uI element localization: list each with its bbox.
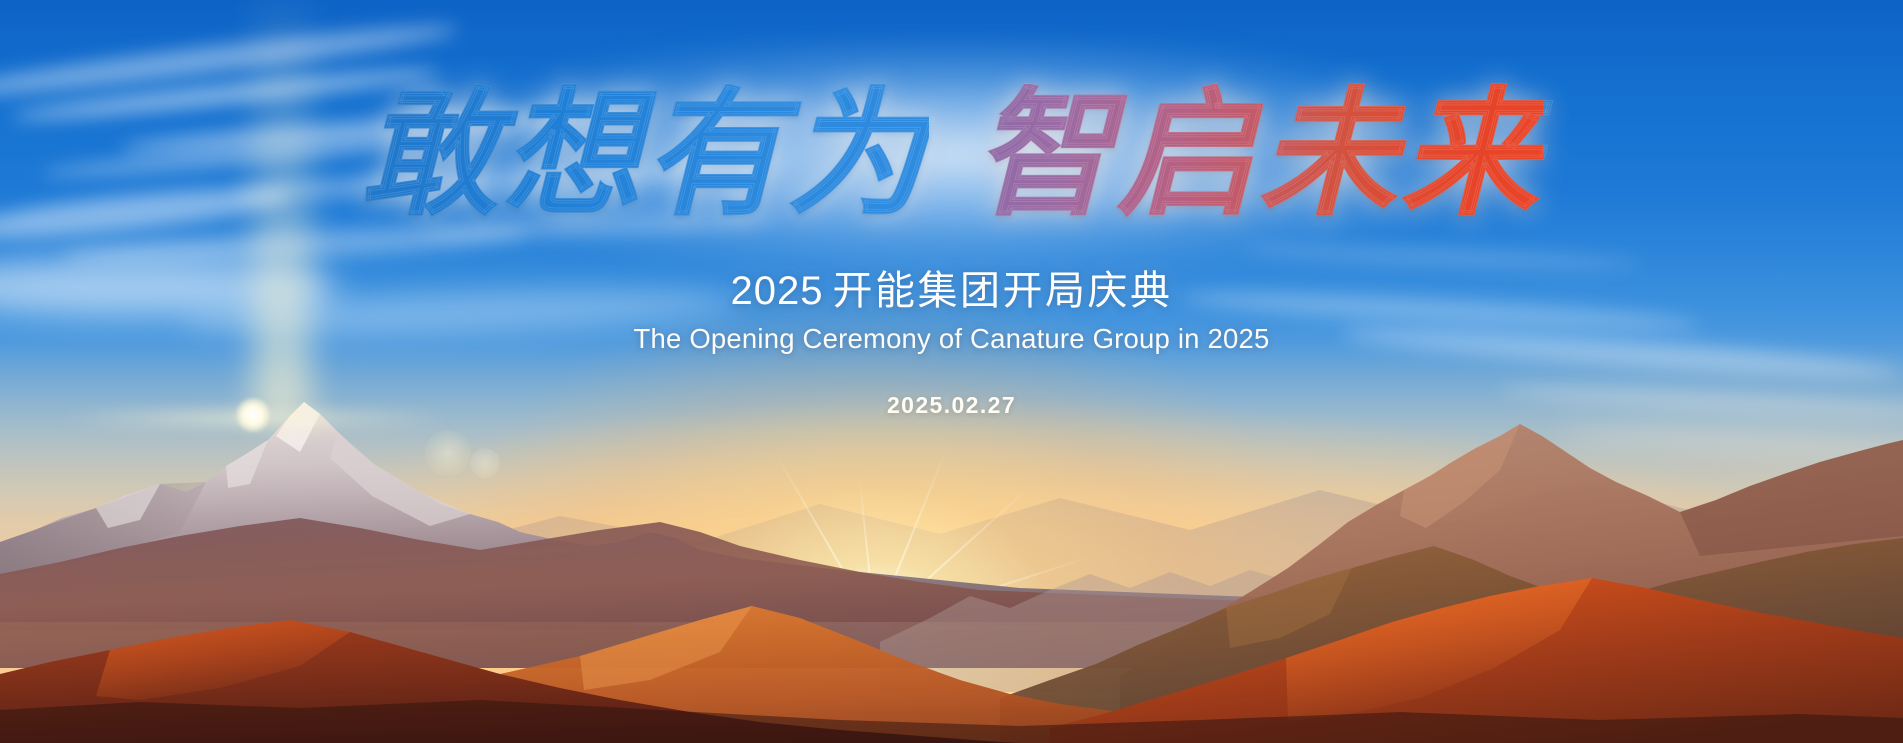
headline-group: 敢想有为 智启未来 (0, 84, 1903, 225)
event-date: 2025.02.27 (0, 392, 1903, 419)
subtitle-english: The Opening Ceremony of Canature Group i… (0, 323, 1903, 355)
subtitle-block: 2025开能集团开局庆典 The Opening Ceremony of Can… (0, 258, 1903, 419)
subtitle-chinese-text: 开能集团开局庆典 (832, 269, 1172, 313)
celebration-banner: 敢想有为 智启未来 2025开能集团开局庆典 The Opening Cerem… (0, 0, 1903, 743)
subtitle-year: 2025 (731, 269, 824, 313)
headline-right-phrase: 智启未来 (975, 84, 1543, 225)
subtitle-chinese: 2025开能集团开局庆典 (0, 258, 1903, 316)
headline-left-phrase: 敢想有为 (360, 84, 928, 225)
